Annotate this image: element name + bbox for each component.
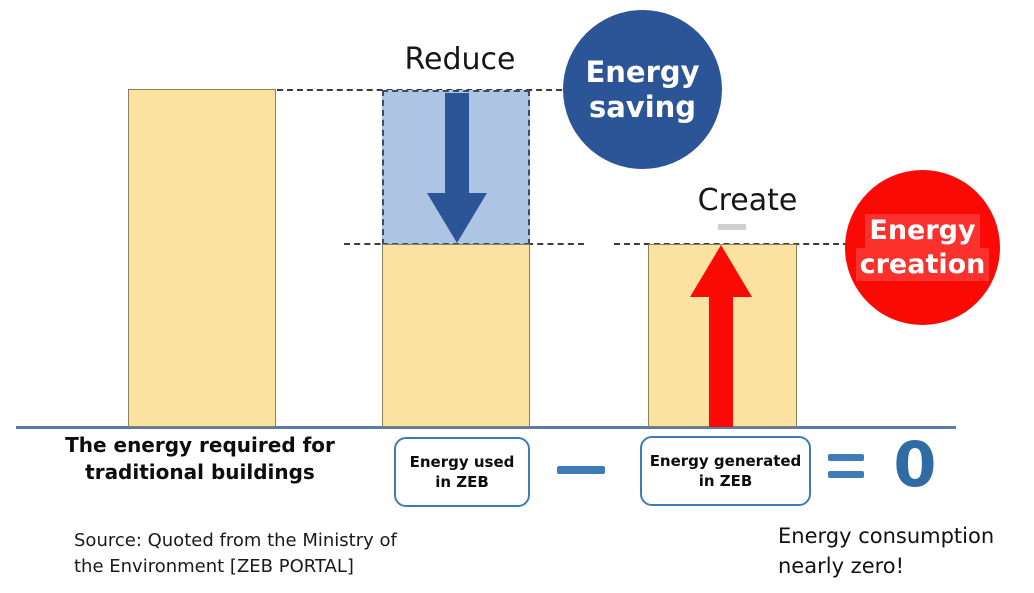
bar-zeb-energy-used [382, 244, 530, 427]
conclusion-line1: Energy consumption [778, 522, 1034, 552]
source-note-line2: the Environment [ZEB PORTAL] [74, 554, 474, 580]
label-reduce: Reduce [395, 42, 525, 77]
equation-result-zero: 0 [880, 434, 950, 496]
caption-traditional-line1: The energy required for [40, 432, 360, 459]
callout-energy-creation: Energy creation [845, 170, 1000, 325]
operator-minus [557, 466, 605, 474]
zeb-energy-diagram: Reduce Create Energy saving Energy creat… [0, 0, 1034, 593]
equals-bar-bottom [828, 471, 864, 478]
source-note: Source: Quoted from the Ministry of the … [74, 528, 474, 580]
box-energy-generated-line2: in ZEB [650, 471, 802, 491]
box-energy-generated-in-zeb: Energy generated in ZEB [640, 436, 811, 506]
caption-traditional-buildings: The energy required for traditional buil… [40, 432, 360, 486]
caption-traditional-line2: traditional buildings [40, 459, 360, 486]
box-energy-used-line2: in ZEB [410, 472, 515, 492]
operator-equals [828, 454, 864, 488]
box-energy-used-in-zeb: Energy used in ZEB [394, 437, 530, 507]
callout-energy-saving-line1: Energy [585, 55, 699, 89]
callout-energy-creation-line1: Energy [865, 214, 979, 248]
conclusion-line2: nearly zero! [778, 552, 1034, 582]
equals-bar-top [828, 454, 864, 461]
callout-energy-saving-line2: saving [585, 90, 699, 124]
callout-energy-saving: Energy saving [563, 10, 722, 169]
label-create: Create [640, 183, 855, 218]
box-energy-generated-line1: Energy generated [650, 451, 802, 471]
source-note-line1: Source: Quoted from the Ministry of [74, 528, 474, 554]
callout-energy-creation-line2: creation [856, 248, 990, 282]
artifact-smudge [718, 224, 746, 230]
arrow-down-icon [425, 93, 489, 245]
arrow-up-icon [688, 245, 754, 427]
box-energy-used-line1: Energy used [410, 452, 515, 472]
bar-traditional-energy [128, 89, 276, 427]
conclusion-text: Energy consumption nearly zero! [778, 522, 1034, 582]
